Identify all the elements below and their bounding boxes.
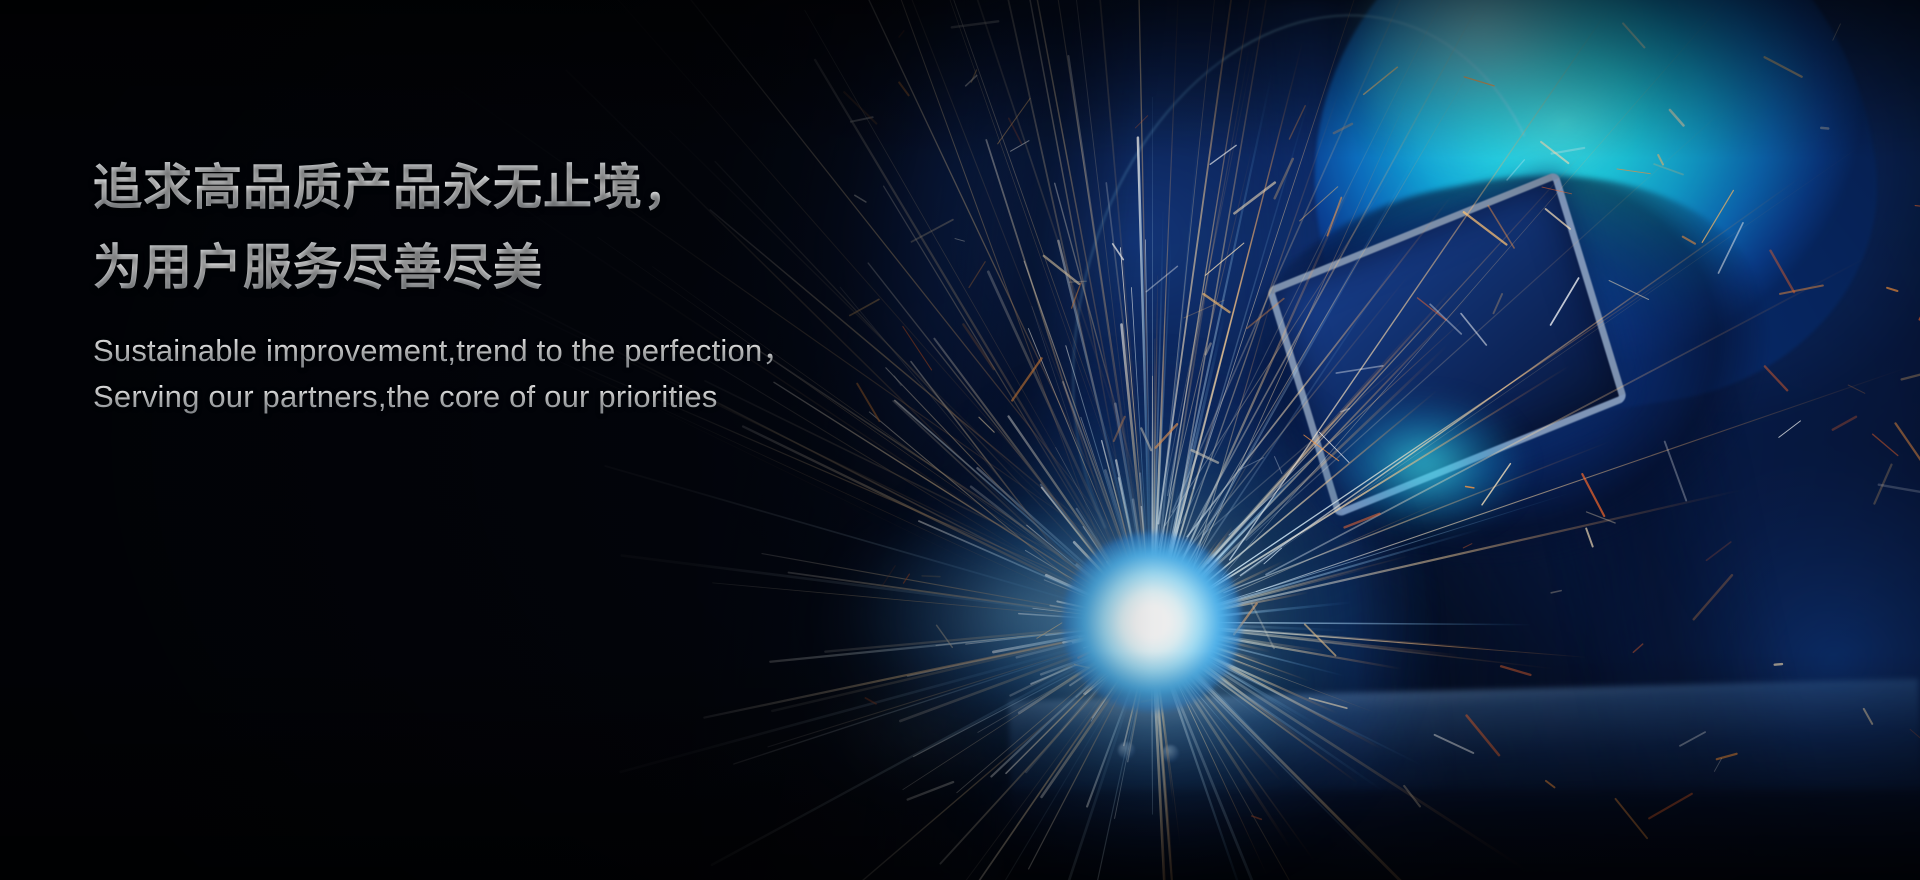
banner-copy: 追求高品质产品永无止境， 为用户服务尽善尽美 Sustainable impro… bbox=[93, 148, 794, 420]
subtitle-block: Sustainable improvement,trend to the per… bbox=[93, 328, 794, 420]
headline-line-2: 为用户服务尽善尽美 bbox=[93, 228, 794, 308]
weld-arc-core bbox=[1062, 532, 1242, 712]
welding-photo-background bbox=[0, 0, 1920, 880]
headline-line-1: 追求高品质产品永无止境， bbox=[93, 148, 794, 228]
hero-banner: 追求高品质产品永无止境， 为用户服务尽善尽美 Sustainable impro… bbox=[0, 0, 1920, 880]
subtitle-line-1: Sustainable improvement,trend to the per… bbox=[93, 328, 794, 374]
subtitle-line-2: Serving our partners,the core of our pri… bbox=[93, 374, 794, 420]
